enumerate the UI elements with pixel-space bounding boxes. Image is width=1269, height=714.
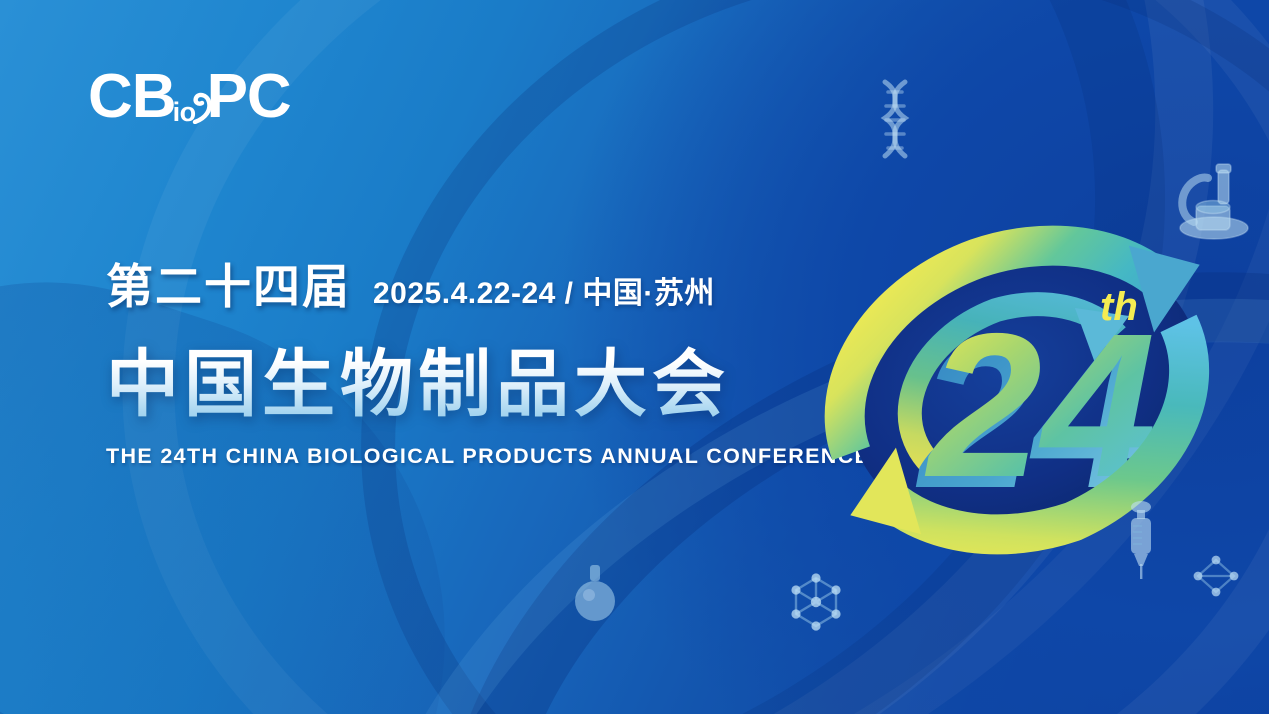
logo-text-pc: PC [207, 66, 291, 128]
english-subtitle: THE 24TH CHINA BIOLOGICAL PRODUCTS ANNUA… [106, 444, 806, 469]
headline-block: 第二十四届 2025.4.22-24 / 中国·苏州 中国生物制品大会 THE … [106, 248, 806, 469]
logo-text-cb: CB [88, 66, 176, 128]
headline-line-one: 第二十四届 2025.4.22-24 / 中国·苏州 [106, 248, 806, 317]
brand-logo: CB io PC [88, 66, 305, 128]
dna-helix-icon [868, 78, 920, 162]
date-and-city: 2025.4.22-24 / 中国·苏州 [373, 268, 715, 312]
emblem-ordinal-suffix: th [1100, 285, 1138, 329]
flask-icon [572, 563, 618, 625]
conference-banner: CB io PC 第二十四届 2025.4.22-24 / 中国·苏州 中国生物… [0, 0, 1269, 714]
edition-number: 第二十四届 [106, 248, 351, 317]
page-title: 中国生物制品大会 [106, 325, 806, 431]
anniversary-emblem: 24 24 th [800, 180, 1250, 600]
